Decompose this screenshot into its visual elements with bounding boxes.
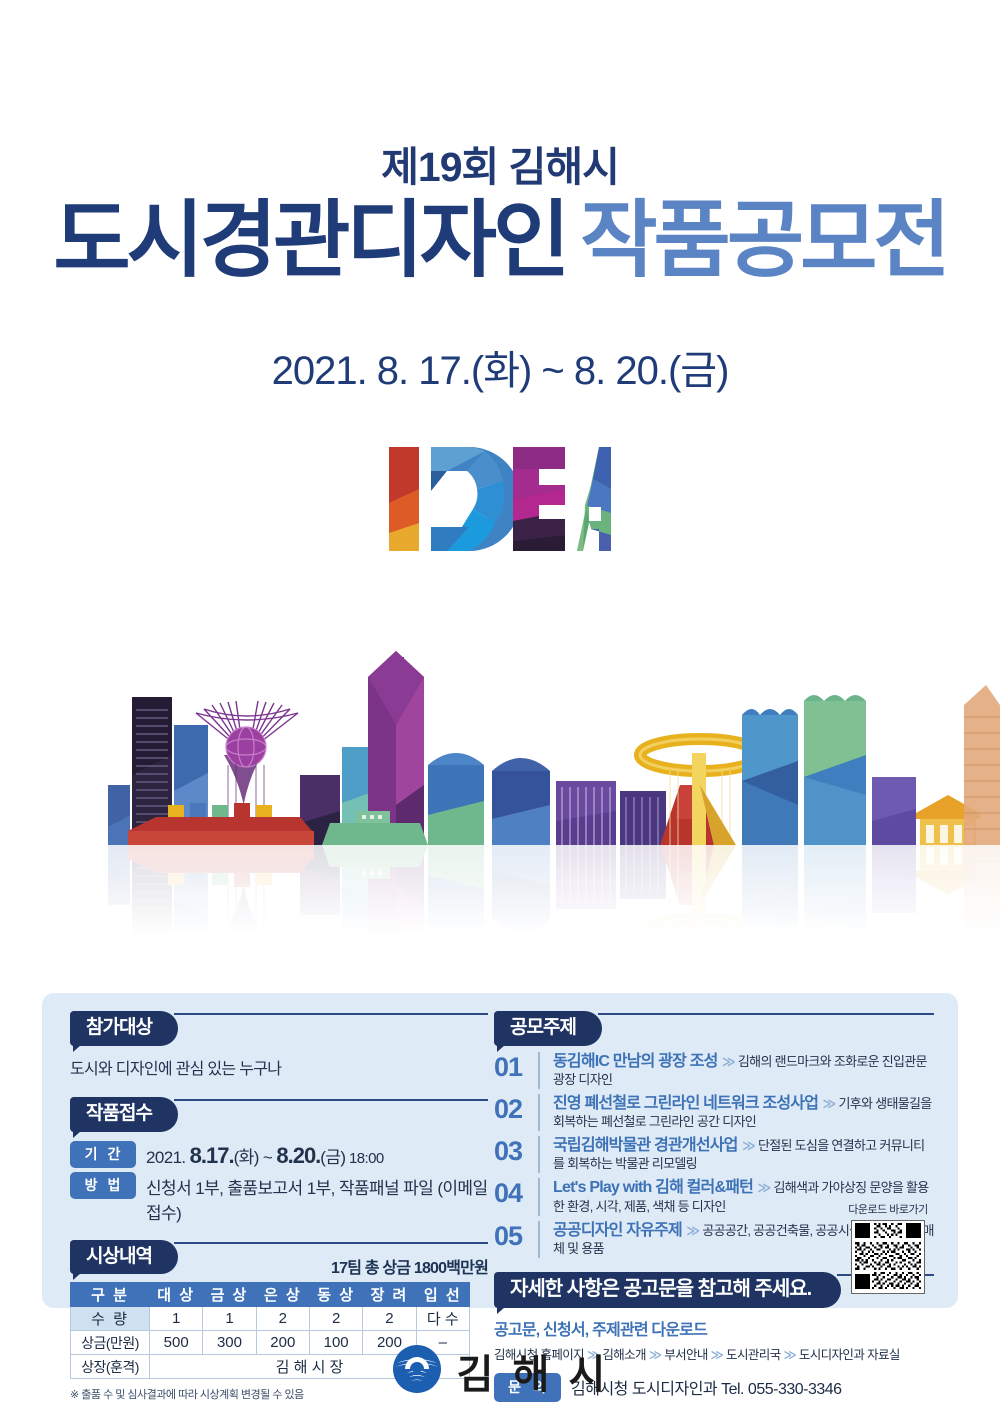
theme-divider — [538, 1052, 540, 1089]
eligibility-heading: 참가대상 — [70, 1011, 178, 1046]
cell-q-3: 2 — [309, 1307, 362, 1331]
footer: 김 해 시 — [0, 1342, 1000, 1400]
period-start-date: 8.17. — [190, 1143, 234, 1168]
cell-q-4: 2 — [363, 1307, 416, 1331]
method-label-chip: 방 법 — [70, 1172, 136, 1199]
info-panel: 참가대상 도시와 디자인에 관심 있는 누구나 작품접수 기 간 2021. 8… — [42, 993, 958, 1308]
col-header-0: 구 분 — [71, 1283, 150, 1307]
theme-title: 동김해IC 만남의 광장 조성 — [553, 1053, 718, 1070]
theme-title: 진영 폐선철로 그린라인 네트워크 조성사업 — [553, 1095, 818, 1112]
theme-number: 01 — [494, 1052, 538, 1081]
chevron-double-right-icon: ≫ — [742, 1138, 755, 1153]
theme-item-03: 03 국립김해박물관 경관개선사업 ≫단절된 도심을 연결하고 커뮤니티를 회복… — [494, 1136, 934, 1173]
poster-kicker: 제19회 김해시 — [0, 133, 1000, 193]
submission-method-row: 방 법 신청서 1부, 출품보고서 1부, 작품패널 파일 (이메일 접수) — [70, 1172, 488, 1224]
cell-q-2: 2 — [256, 1307, 309, 1331]
theme-number: 04 — [494, 1178, 538, 1207]
col-header-5: 장 려 — [363, 1283, 416, 1307]
gimhae-city-emblem-icon — [391, 1343, 443, 1400]
period-start-day: (화) — [234, 1148, 259, 1167]
submission-period-row: 기 간 2021. 8.17.(화) ~ 8.20.(금) 18:00 — [70, 1141, 488, 1169]
theme-number: 05 — [494, 1221, 538, 1250]
eligibility-text: 도시와 디자인에 관심 있는 누구나 — [70, 1055, 488, 1079]
method-value: 신청서 1부, 출품보고서 1부, 작품패널 파일 (이메일 접수) — [146, 1172, 488, 1224]
awards-heading: 시상내역 — [70, 1240, 178, 1275]
theme-divider — [538, 1178, 540, 1215]
theme-divider — [538, 1136, 540, 1173]
row-label-quantity: 수 량 — [71, 1307, 150, 1331]
theme-item-02: 02 진영 폐선철로 그린라인 네트워크 조성사업 ≫기후와 생태물길을 회복하… — [494, 1094, 934, 1131]
chevron-double-right-icon: ≫ — [686, 1223, 699, 1238]
qr-section[interactable]: 다운로드 바로가기 — [848, 1201, 928, 1294]
notice-heading: 자세한 사항은 공고문을 참고해 주세요. — [494, 1272, 841, 1308]
section-submission: 작품접수 기 간 2021. 8.17.(화) ~ 8.20.(금) 18:00… — [70, 1097, 488, 1224]
period-tilde: ~ — [259, 1148, 277, 1167]
theme-number: 03 — [494, 1136, 538, 1165]
theme-divider — [538, 1094, 540, 1131]
chevron-double-right-icon: ≫ — [823, 1096, 836, 1111]
period-end-day: (금) — [320, 1148, 345, 1167]
period-year: 2021. — [146, 1148, 190, 1167]
col-header-2: 금 상 — [203, 1283, 256, 1307]
qr-label: 다운로드 바로가기 — [848, 1201, 928, 1217]
col-header-3: 은 상 — [256, 1283, 309, 1307]
page-title: 도시경관디자인작품공모전 — [0, 198, 1000, 284]
col-header-6: 입 선 — [416, 1283, 469, 1307]
theme-item-01: 01 동김해IC 만남의 광장 조성 ≫김해의 랜드마크와 조화로운 진입관문 … — [494, 1052, 934, 1089]
table-row: 수 량 1 1 2 2 2 다 수 — [71, 1307, 470, 1331]
theme-content: 진영 폐선철로 그린라인 네트워크 조성사업 ≫기후와 생태물길을 회복하는 폐… — [553, 1094, 934, 1131]
period-value: 2021. 8.17.(화) ~ 8.20.(금) 18:00 — [146, 1141, 384, 1169]
qr-code-icon[interactable] — [851, 1220, 925, 1294]
cell-q-1: 1 — [203, 1307, 256, 1331]
title-part-2: 작품공모전 — [580, 193, 946, 287]
section-eligibility: 참가대상 도시와 디자인에 관심 있는 누구나 — [70, 1011, 488, 1079]
col-header-1: 대 상 — [150, 1283, 203, 1307]
title-part-1: 도시경관디자인 — [53, 193, 566, 287]
theme-title: Let's Play with 김해 컬러&패턴 — [553, 1179, 753, 1196]
poster-root: 제19회 김해시 도시경관디자인작품공모전 2021. 8. 17.(화) ~ … — [0, 0, 1000, 1408]
submission-heading: 작품접수 — [70, 1097, 178, 1132]
chevron-double-right-icon: ≫ — [722, 1054, 735, 1069]
period-end-date: 8.20. — [276, 1143, 320, 1168]
cell-q-0: 1 — [150, 1307, 203, 1331]
divider-line — [174, 1099, 488, 1101]
cell-q-5: 다 수 — [416, 1307, 469, 1331]
col-header-4: 동 상 — [309, 1283, 362, 1307]
event-date-range: 2021. 8. 17.(화) ~ 8. 20.(금) — [0, 338, 1000, 396]
theme-title: 공공디자인 자유주제 — [553, 1222, 682, 1239]
download-label: 공고문, 신청서, 주제관련 다운로드 — [494, 1316, 934, 1340]
table-header-row: 구 분 대 상 금 상 은 상 동 상 장 려 입 선 — [71, 1283, 470, 1307]
divider-line — [174, 1013, 488, 1015]
theme-content: 국립김해박물관 경관개선사업 ≫단절된 도심을 연결하고 커뮤니티를 회복하는 … — [553, 1136, 934, 1173]
submission-body: 기 간 2021. 8.17.(화) ~ 8.20.(금) 18:00 방 법 … — [70, 1141, 488, 1224]
period-time: 18:00 — [345, 1150, 383, 1167]
theme-content: 동김해IC 만남의 광장 조성 ≫김해의 랜드마크와 조화로운 진입관문 광장 … — [553, 1052, 934, 1089]
theme-divider — [538, 1221, 540, 1258]
chevron-double-right-icon: ≫ — [758, 1180, 771, 1195]
divider-line — [174, 1242, 488, 1244]
city-skyline-illustration — [0, 605, 1000, 935]
theme-number: 02 — [494, 1094, 538, 1123]
theme-title: 국립김해박물관 경관개선사업 — [553, 1137, 738, 1154]
idea-logo — [385, 443, 615, 560]
eligibility-body: 도시와 디자인에 관심 있는 누구나 — [70, 1055, 488, 1079]
eligibility-header: 참가대상 — [70, 1011, 488, 1046]
themes-header: 공모주제 — [494, 1011, 934, 1046]
submission-header: 작품접수 — [70, 1097, 488, 1132]
awards-header: 시상내역 — [70, 1240, 488, 1275]
period-label-chip: 기 간 — [70, 1141, 136, 1168]
footer-city-name: 김 해 시 — [457, 1342, 610, 1400]
divider-line — [598, 1013, 934, 1015]
themes-heading: 공모주제 — [494, 1011, 602, 1046]
